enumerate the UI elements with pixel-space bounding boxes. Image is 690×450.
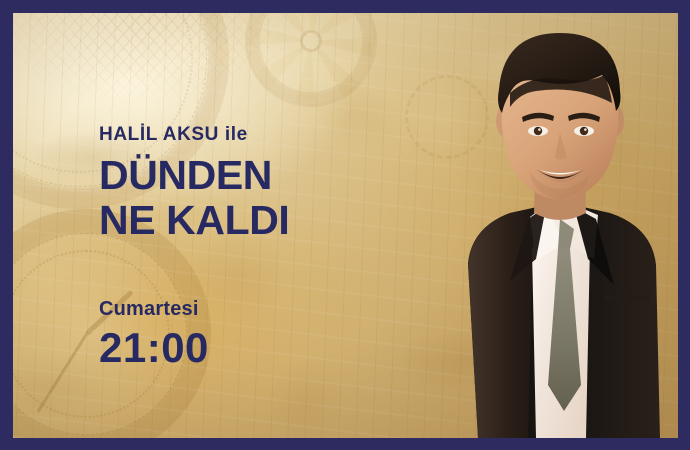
show-title-line-2: NE KALDI xyxy=(99,200,289,242)
tv-program-promo-card: HALİL AKSU ile DÜNDEN NE KALDI Cumartesi… xyxy=(0,0,690,450)
broadcast-schedule: Cumartesi 21:00 xyxy=(99,299,209,369)
broadcast-time: 21:00 xyxy=(99,327,209,369)
show-title-line-1: DÜNDEN xyxy=(99,155,289,197)
parchment-background: HALİL AKSU ile DÜNDEN NE KALDI Cumartesi… xyxy=(13,13,678,438)
vintage-gear-medallion-icon xyxy=(245,13,377,107)
host-name-line: HALİL AKSU ile xyxy=(99,125,289,144)
broadcast-day: Cumartesi xyxy=(99,299,209,319)
engraved-crosshatch-texture xyxy=(13,13,343,141)
presenter-photo xyxy=(360,13,678,438)
show-title: DÜNDEN NE KALDI xyxy=(99,155,289,242)
clock-minute-hand-icon xyxy=(36,333,87,413)
promo-copy: HALİL AKSU ile DÜNDEN NE KALDI xyxy=(99,125,289,242)
small-gear-icon xyxy=(405,75,489,159)
